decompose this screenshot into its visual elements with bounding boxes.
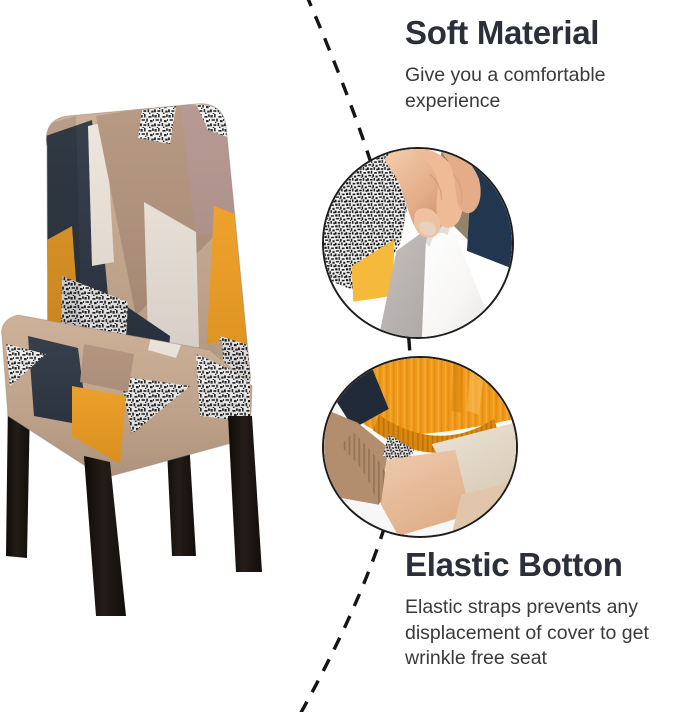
feature-title-elastic-bottom: Elastic Botton: [405, 548, 667, 583]
closeup-elastic-hem-icon: [322, 356, 518, 538]
closeup-fabric-layers-icon: [322, 147, 514, 339]
feature-title-soft-material: Soft Material: [405, 16, 667, 51]
feature-elastic-bottom: Elastic Botton Elastic straps prevents a…: [405, 548, 667, 672]
feature-soft-material: Soft Material Give you a comfortable exp…: [405, 16, 667, 114]
feature-description-soft-material: Give you a comfortable experience: [405, 63, 667, 115]
upholstered-dining-chair-icon: [0, 86, 320, 626]
feature-description-elastic-bottom: Elastic straps prevents any displacement…: [405, 595, 667, 673]
product-infographic: Soft Material Give you a comfortable exp…: [0, 0, 679, 712]
